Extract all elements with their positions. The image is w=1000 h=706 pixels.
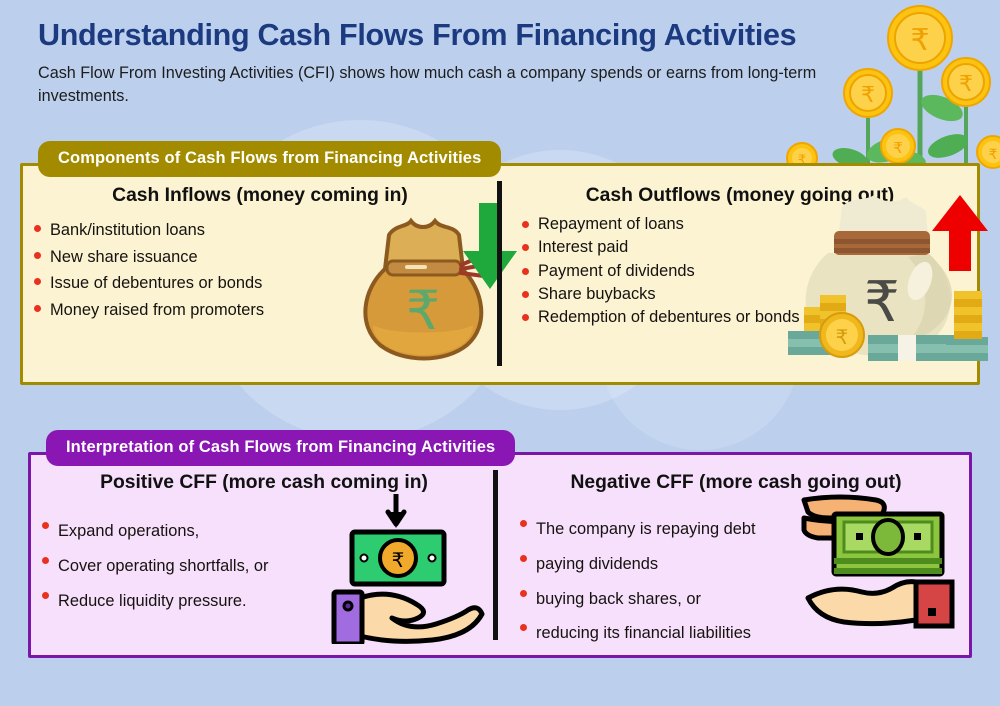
svg-text:₹: ₹ [836,325,849,349]
svg-text:₹: ₹ [959,72,973,97]
negative-cff-column: Negative CFF (more cash going out) The c… [500,452,972,658]
down-arrow-icon [463,203,517,291]
svg-text:₹: ₹ [910,23,929,58]
page-title: Understanding Cash Flows From Financing … [38,18,838,52]
interpretation-column-divider [493,470,498,640]
components-column-divider [497,181,502,366]
positive-cff-column: Positive CFF (more cash coming in) Expan… [28,452,500,658]
svg-text:₹: ₹ [893,139,903,157]
hand-giving-banknote-icon [800,490,960,630]
svg-text:₹: ₹ [392,548,405,572]
positive-cff-heading: Positive CFF (more cash coming in) [28,472,500,494]
header: Understanding Cash Flows From Financing … [38,18,838,109]
components-panel: Components of Cash Flows from Financing … [20,163,980,385]
components-panel-badge: Components of Cash Flows from Financing … [38,141,501,177]
hand-receiving-banknote-icon: ₹ [328,494,488,644]
page-subtitle: Cash Flow From Investing Activities (CFI… [38,62,838,109]
up-arrow-icon [932,195,988,271]
interpretation-panel: Interpretation of Cash Flows from Financ… [28,452,972,658]
interpretation-panel-badge: Interpretation of Cash Flows from Financ… [46,430,515,466]
svg-text:₹: ₹ [864,270,900,335]
cash-inflows-heading: Cash Inflows (money coming in) [20,185,500,207]
svg-text:₹: ₹ [989,147,998,163]
cash-outflows-column: Cash Outflows (money going out) Repaymen… [500,163,980,385]
svg-text:₹: ₹ [406,279,440,342]
svg-text:₹: ₹ [861,83,875,108]
cash-inflows-column: Cash Inflows (money coming in) Bank/inst… [20,163,500,385]
